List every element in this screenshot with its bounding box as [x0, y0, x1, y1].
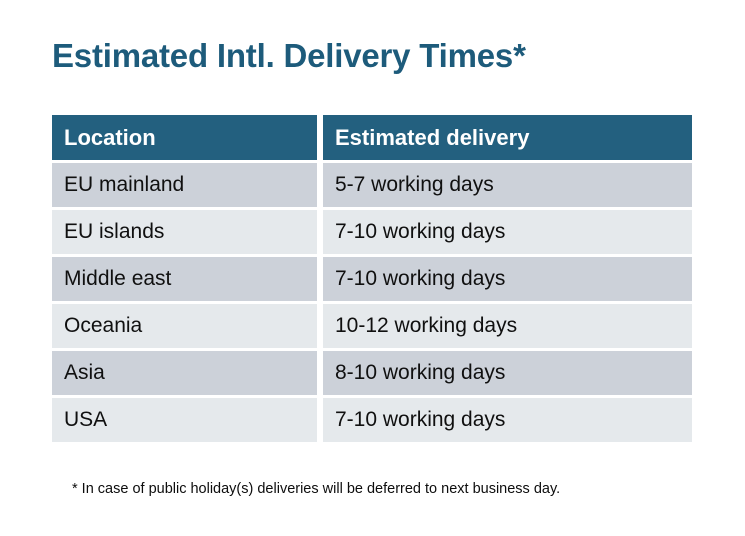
delivery-times-table: Location Estimated delivery EU mainland …: [52, 115, 692, 442]
table-row: EU islands 7-10 working days: [52, 210, 692, 254]
footnote-text: * In case of public holiday(s) deliverie…: [72, 479, 560, 499]
cell-location: Middle east: [52, 257, 317, 301]
table-row: Oceania 10-12 working days: [52, 304, 692, 348]
table-header-row: Location Estimated delivery: [52, 115, 692, 160]
delivery-times-page: Estimated Intl. Delivery Times* Location…: [0, 0, 745, 536]
page-title: Estimated Intl. Delivery Times*: [52, 36, 526, 76]
table-row: EU mainland 5-7 working days: [52, 163, 692, 207]
cell-location: Oceania: [52, 304, 317, 348]
cell-delivery: 10-12 working days: [323, 304, 692, 348]
cell-delivery: 7-10 working days: [323, 210, 692, 254]
cell-delivery: 7-10 working days: [323, 398, 692, 442]
table-row: USA 7-10 working days: [52, 398, 692, 442]
cell-location: Asia: [52, 351, 317, 395]
cell-location: EU mainland: [52, 163, 317, 207]
cell-location: USA: [52, 398, 317, 442]
cell-location: EU islands: [52, 210, 317, 254]
table-row: Asia 8-10 working days: [52, 351, 692, 395]
cell-delivery: 7-10 working days: [323, 257, 692, 301]
table-row: Middle east 7-10 working days: [52, 257, 692, 301]
cell-delivery: 8-10 working days: [323, 351, 692, 395]
column-header-estimated-delivery: Estimated delivery: [323, 115, 692, 160]
cell-delivery: 5-7 working days: [323, 163, 692, 207]
column-header-location: Location: [52, 115, 317, 160]
